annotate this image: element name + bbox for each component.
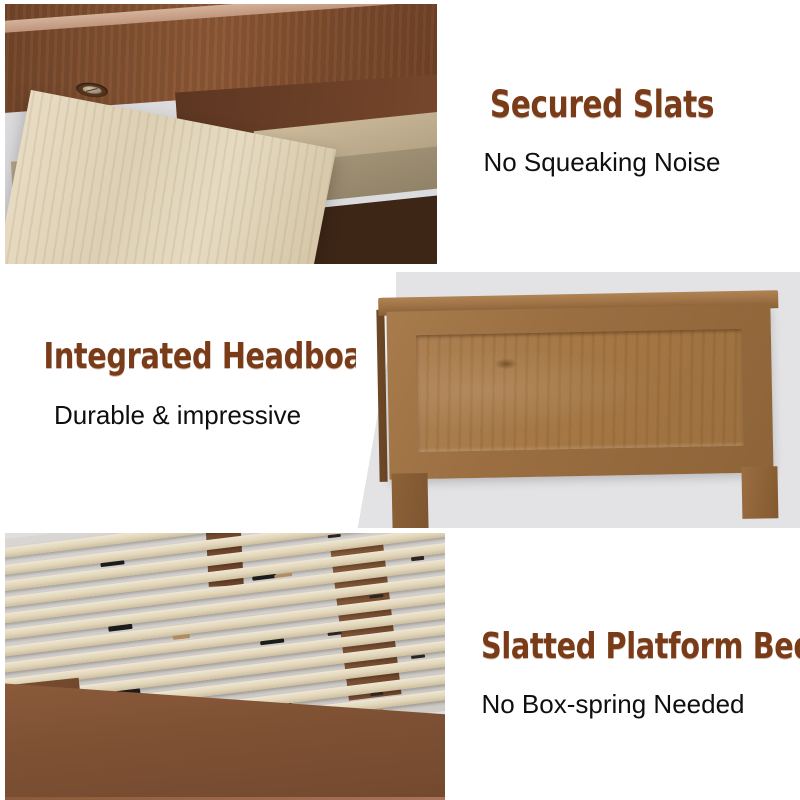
slat-anchor-strap <box>411 556 425 561</box>
feature-text-integrated-headboard: Integrated Headboard Durable & impressiv… <box>10 338 345 429</box>
slat-anchor-strap <box>412 654 426 659</box>
screw-slot <box>86 88 98 92</box>
infographic-canvas: Secured Slats No Squeaking Noise Integra… <box>0 0 800 800</box>
headboard-leg-left <box>391 473 428 528</box>
slat-anchor-strap <box>328 632 342 637</box>
screw-head <box>82 85 101 95</box>
wood-knot <box>494 359 517 370</box>
feature-subtitle-secured-slats: No Squeaking Noise <box>452 148 752 177</box>
headboard-leg-right <box>741 466 778 519</box>
headboard-assembly <box>378 290 782 498</box>
slat-anchor-strap <box>370 594 384 599</box>
feature-text-secured-slats: Secured Slats No Squeaking Noise <box>452 86 752 176</box>
feature-image-secured-slats <box>5 4 437 264</box>
feature-subtitle-integrated-headboard: Durable & impressive <box>10 401 345 430</box>
headboard-frame <box>386 304 773 479</box>
feature-title-slatted-platform-bed: Slatted Platform Bed <box>481 628 745 666</box>
feature-image-integrated-headboard <box>356 272 800 528</box>
slat-anchor-strap <box>328 534 342 539</box>
feature-title-integrated-headboard: Integrated Headboard <box>44 338 312 376</box>
headboard-center-panel <box>416 328 745 452</box>
slat-anchor-strap <box>370 692 384 697</box>
feature-image-slatted-platform-bed <box>5 533 445 800</box>
feature-title-secured-slats: Secured Slats <box>482 86 722 125</box>
feature-text-slatted-platform-bed: Slatted Platform Bed No Box-spring Neede… <box>448 628 778 718</box>
feature-subtitle-slatted-platform-bed: No Box-spring Needed <box>448 690 778 719</box>
